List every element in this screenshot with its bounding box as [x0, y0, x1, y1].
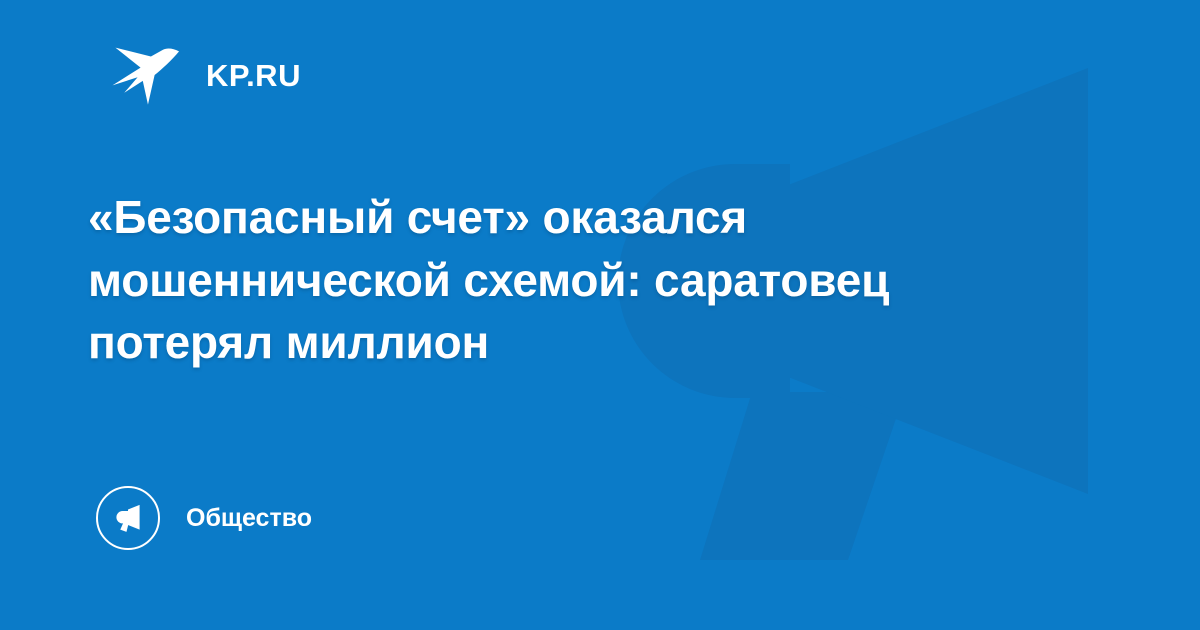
swallow-bird-icon — [108, 38, 182, 112]
category-badge-group[interactable]: Общество — [96, 486, 312, 550]
social-share-card: KP.RU «Безопасный счет» оказался мошенни… — [0, 0, 1200, 630]
brand-header[interactable]: KP.RU — [108, 38, 301, 112]
page-title: «Безопасный счет» оказался мошеннической… — [88, 186, 968, 374]
megaphone-icon — [111, 501, 145, 535]
category-label: Общество — [186, 506, 312, 531]
megaphone-badge — [96, 486, 160, 550]
brand-name: KP.RU — [206, 60, 301, 91]
